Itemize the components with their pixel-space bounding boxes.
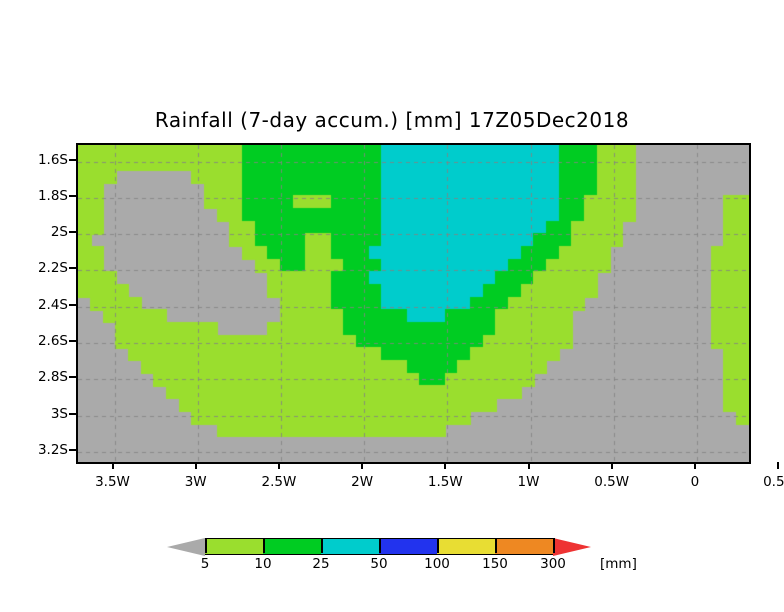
- colorbar-segment: [553, 538, 591, 556]
- colorbar-level-label: 150: [482, 556, 508, 572]
- colorbar-divider: [553, 538, 555, 553]
- colorbar-segment: [167, 538, 205, 556]
- colorbar-level-label: 25: [312, 556, 329, 572]
- colorbar-segment: [495, 538, 553, 555]
- colorbar-level-label: 10: [254, 556, 271, 572]
- colorbar-divider: [205, 538, 207, 553]
- colorbar-segment: [205, 538, 263, 555]
- colorbar-divider: [321, 538, 323, 553]
- colorbar-segment: [321, 538, 379, 555]
- colorbar-divider: [437, 538, 439, 553]
- colorbar-level-label: 50: [370, 556, 387, 572]
- colorbar-divider: [379, 538, 381, 553]
- colorbar-segment: [437, 538, 495, 555]
- colorbar-divider: [495, 538, 497, 553]
- colorbar: 5102550100150300[mm]: [0, 0, 784, 612]
- colorbar-level-label: 300: [540, 556, 566, 572]
- colorbar-divider: [263, 538, 265, 553]
- colorbar-unit-label: [mm]: [600, 556, 637, 572]
- colorbar-segment: [263, 538, 321, 555]
- colorbar-level-label: 5: [201, 556, 210, 572]
- colorbar-segment: [379, 538, 437, 555]
- colorbar-level-label: 100: [424, 556, 450, 572]
